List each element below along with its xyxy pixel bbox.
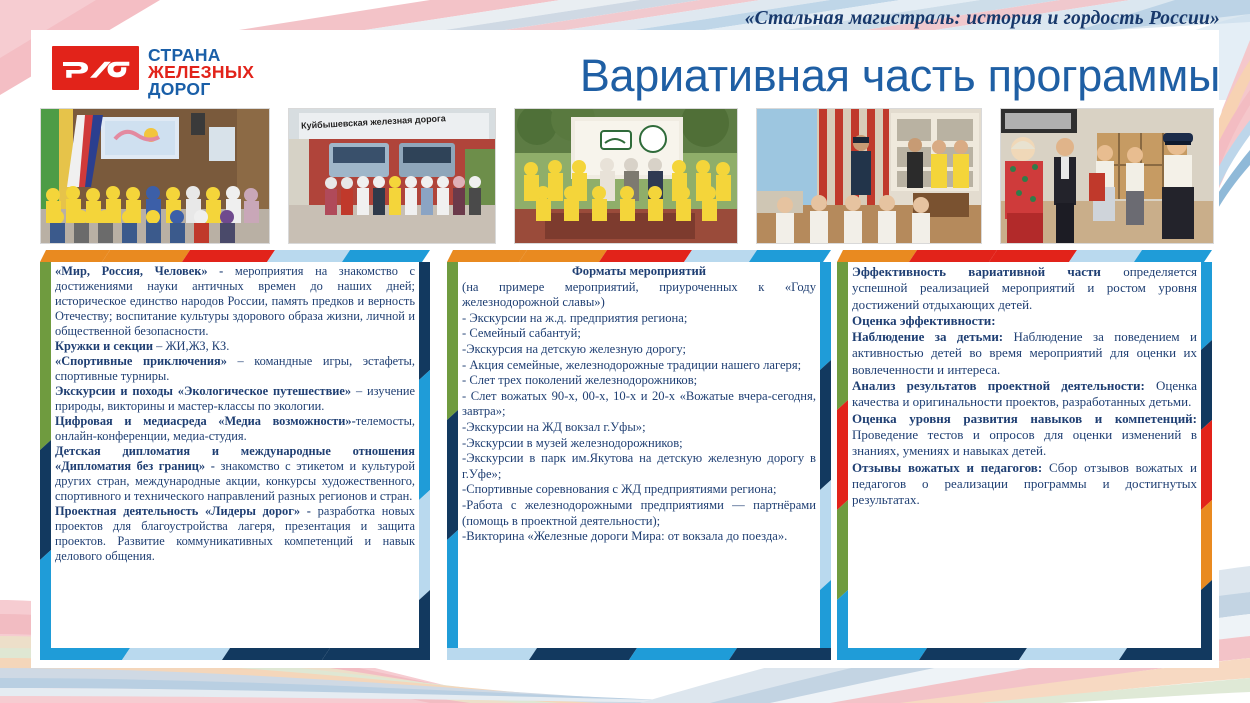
col3-block-1: Оценка эффективности: [852, 313, 1197, 329]
rzd-logo: СТРАНА ЖЕЛЕЗНЫХ ДОРОГ [52, 46, 254, 97]
col2-item-2: -Экскурсия на детскую железную дорогу; [462, 342, 816, 358]
col1-bold-0: «Мир, Россия, Человек» - [55, 264, 235, 278]
col2-item-11: -Викторина «Железные дороги Мира: от вок… [462, 529, 816, 545]
photo-strip: Куйбышевская железная дорога [40, 108, 1212, 242]
column-event-formats: Форматы мероприятий (на примере мероприя… [447, 250, 831, 660]
col3-bold-1: Оценка эффективности: [852, 313, 996, 328]
column-3-text: Эффективность вариативной части определя… [848, 262, 1201, 644]
photo-railway-staff-meeting-image [1001, 109, 1213, 243]
col3-bold-0: Эффективность вариативной части [852, 264, 1123, 279]
col2-title: Форматы мероприятий [462, 264, 816, 280]
col3-block-4: Оценка уровня развития навыков и компете… [852, 411, 1197, 460]
col2-item-5: - Слет вожатых 90-х, 00-х, 10-х и 20-х «… [462, 389, 816, 420]
column-effectiveness: Эффективность вариативной части определя… [837, 250, 1212, 660]
column-2-text: Форматы мероприятий (на примере мероприя… [458, 262, 820, 644]
rzd-logo-mark [52, 46, 139, 90]
col2-subtitle: (на примере мероприятий, приуроченных к … [462, 280, 816, 311]
col3-bold-4: Оценка уровня развития навыков и компете… [852, 411, 1197, 426]
col3-block-3: Анализ результатов проектной деятельност… [852, 378, 1197, 411]
col2-item-4: - Слет трех поколений железнодорожников; [462, 373, 816, 389]
col2-item-6: -Экскурсии на ЖД вокзал г.Уфы»; [462, 420, 816, 436]
col2-item-3: - Акция семейные, железнодорожные традиц… [462, 358, 816, 374]
col1-block-3: Экскурсии и походы «Экологическое путеше… [55, 384, 415, 414]
photo-museum-uniform-image [757, 109, 981, 243]
banner-title: «Стальная магистраль: история и гордость… [560, 6, 1220, 32]
col1-block-4: Цифровая и медиасреда «Медиа возможности… [55, 414, 415, 444]
col1-block-5: Детская дипломатия и международные отнош… [55, 444, 415, 504]
photo-museum-uniform [756, 108, 982, 244]
photo-camp-group-hall [40, 108, 270, 244]
col3-block-0: Эффективность вариативной части определя… [852, 264, 1197, 313]
col3-bold-3: Анализ результатов проектной деятельност… [852, 378, 1156, 393]
column-1-text: «Мир, Россия, Человек» - мероприятия на … [51, 262, 419, 644]
col2-item-0: - Экскурсии на ж.д. предприятия региона; [462, 311, 816, 327]
photo-camp-group-hall-image [41, 109, 269, 243]
col2-item-8: -Экскурсии в парк им.Якутова на детскую … [462, 451, 816, 482]
col3-text-4: Проведение тестов и опросов для оценки и… [852, 427, 1197, 458]
column-program-directions: «Мир, Россия, Человек» - мероприятия на … [40, 250, 430, 660]
col1-block-2: «Спортивные приключения» – командные игр… [55, 354, 415, 384]
col2-item-9: -Спортивные соревнования с ЖД предприяти… [462, 482, 816, 498]
col1-bold-6: Проектная деятельность «Лидеры дорог» - [55, 504, 318, 518]
col1-bold-1: Кружки и секции [55, 339, 156, 353]
photo-railway-staff-meeting [1000, 108, 1214, 244]
col3-block-2: Наблюдение за детьми: Наблюдение за пове… [852, 329, 1197, 378]
photo-kuibyshev-railway: Куйбышевская железная дорога [288, 108, 496, 244]
col1-bold-3: Экскурсии и походы «Экологическое путеше… [55, 384, 356, 398]
col3-block-5: Отзывы вожатых и педагогов: Сбор отзывов… [852, 460, 1197, 509]
col1-block-1: Кружки и секции – ЖИ,ЖЗ, КЗ. [55, 339, 415, 354]
col2-item-1: - Семейный сабантуй; [462, 326, 816, 342]
rzd-monogram-icon [60, 54, 132, 82]
col1-text-1: – ЖИ,ЖЗ, КЗ. [156, 339, 229, 353]
col3-bold-5: Отзывы вожатых и педагогов: [852, 460, 1049, 475]
col2-item-10: -Работа с железнодорожными предприятиями… [462, 498, 816, 529]
logo-wordmark: СТРАНА ЖЕЛЕЗНЫХ ДОРОГ [148, 46, 254, 97]
content-columns: «Мир, Россия, Человек» - мероприятия на … [40, 250, 1212, 660]
page-title: Вариативная часть программы [430, 50, 1220, 102]
col2-item-7: -Экскурсии в музей железнодорожников; [462, 436, 816, 452]
col1-bold-2: «Спортивные приключения» [55, 354, 238, 368]
logo-line-3: ДОРОГ [148, 81, 254, 98]
col1-block-6: Проектная деятельность «Лидеры дорог» - … [55, 504, 415, 564]
col1-block-0: «Мир, Россия, Человек» - мероприятия на … [55, 264, 415, 339]
photo-sabantuy-group [514, 108, 738, 244]
col1-bold-4: Цифровая и медиасреда «Медиа возможности… [55, 414, 356, 428]
photo-sabantuy-group-image [515, 109, 737, 243]
col3-bold-2: Наблюдение за детьми: [852, 329, 1014, 344]
